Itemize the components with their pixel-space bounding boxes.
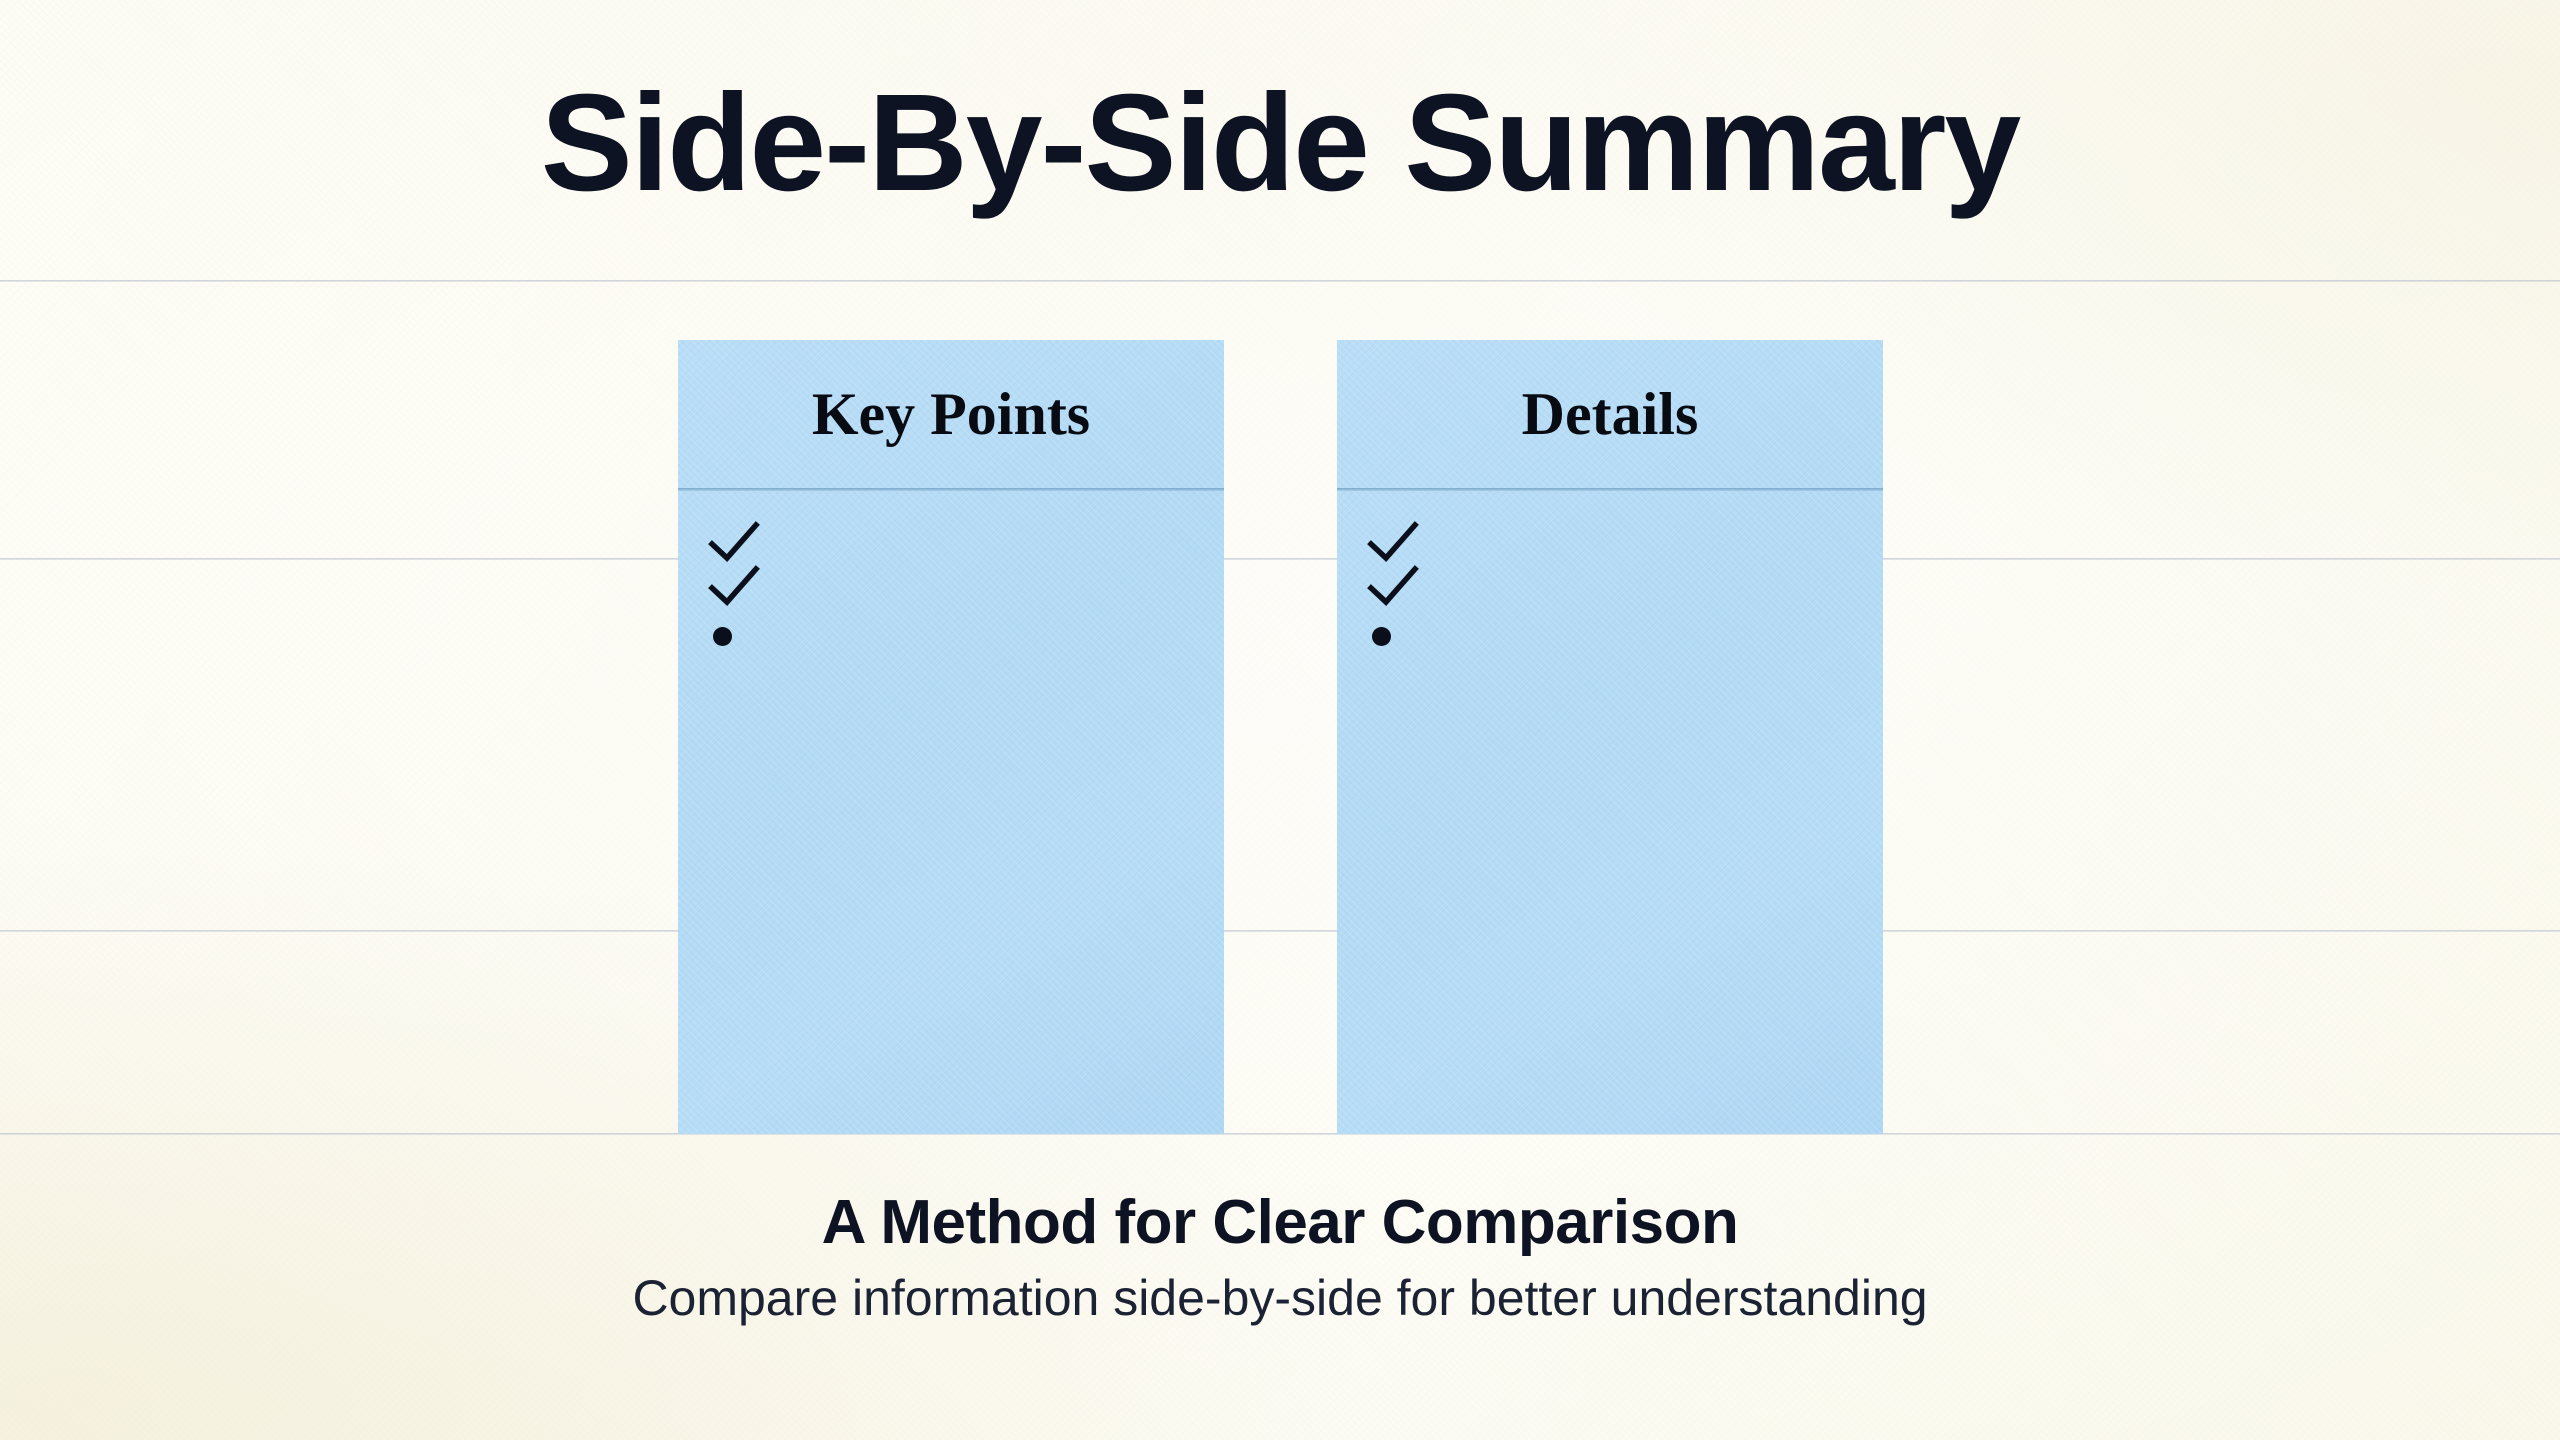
list-item (1367, 520, 1883, 564)
rule-line-1 (0, 280, 2560, 282)
check-icon (1367, 520, 1419, 564)
card-title-details: Details (1522, 384, 1699, 444)
card-header-key-points: Key Points (678, 340, 1224, 488)
card-body-details (1337, 488, 1883, 664)
check-icon (708, 520, 760, 564)
bullet-dot-icon (1372, 627, 1391, 646)
page-title: Side-By-Side Summary (0, 74, 2560, 212)
footer-heading: A Method for Clear Comparison (0, 1190, 2560, 1255)
check-icon (1367, 564, 1419, 608)
list-item (1367, 608, 1883, 664)
comparison-card-details[interactable]: Details (1337, 340, 1883, 1134)
comparison-cards-row: Key Points (678, 340, 1883, 1134)
card-header-details: Details (1337, 340, 1883, 488)
card-title-key-points: Key Points (812, 384, 1090, 444)
check-icon (708, 564, 760, 608)
list-item (708, 608, 1224, 664)
slide-canvas: Side-By-Side Summary Key Points (0, 0, 2560, 1440)
bullet-dot-icon (713, 627, 732, 646)
card-body-key-points (678, 488, 1224, 664)
footer-subheading: Compare information side-by-side for bet… (0, 1271, 2560, 1326)
list-item (708, 520, 1224, 564)
list-item (1367, 564, 1883, 608)
comparison-card-key-points[interactable]: Key Points (678, 340, 1224, 1134)
footer-caption: A Method for Clear Comparison Compare in… (0, 1190, 2560, 1326)
list-item (708, 564, 1224, 608)
